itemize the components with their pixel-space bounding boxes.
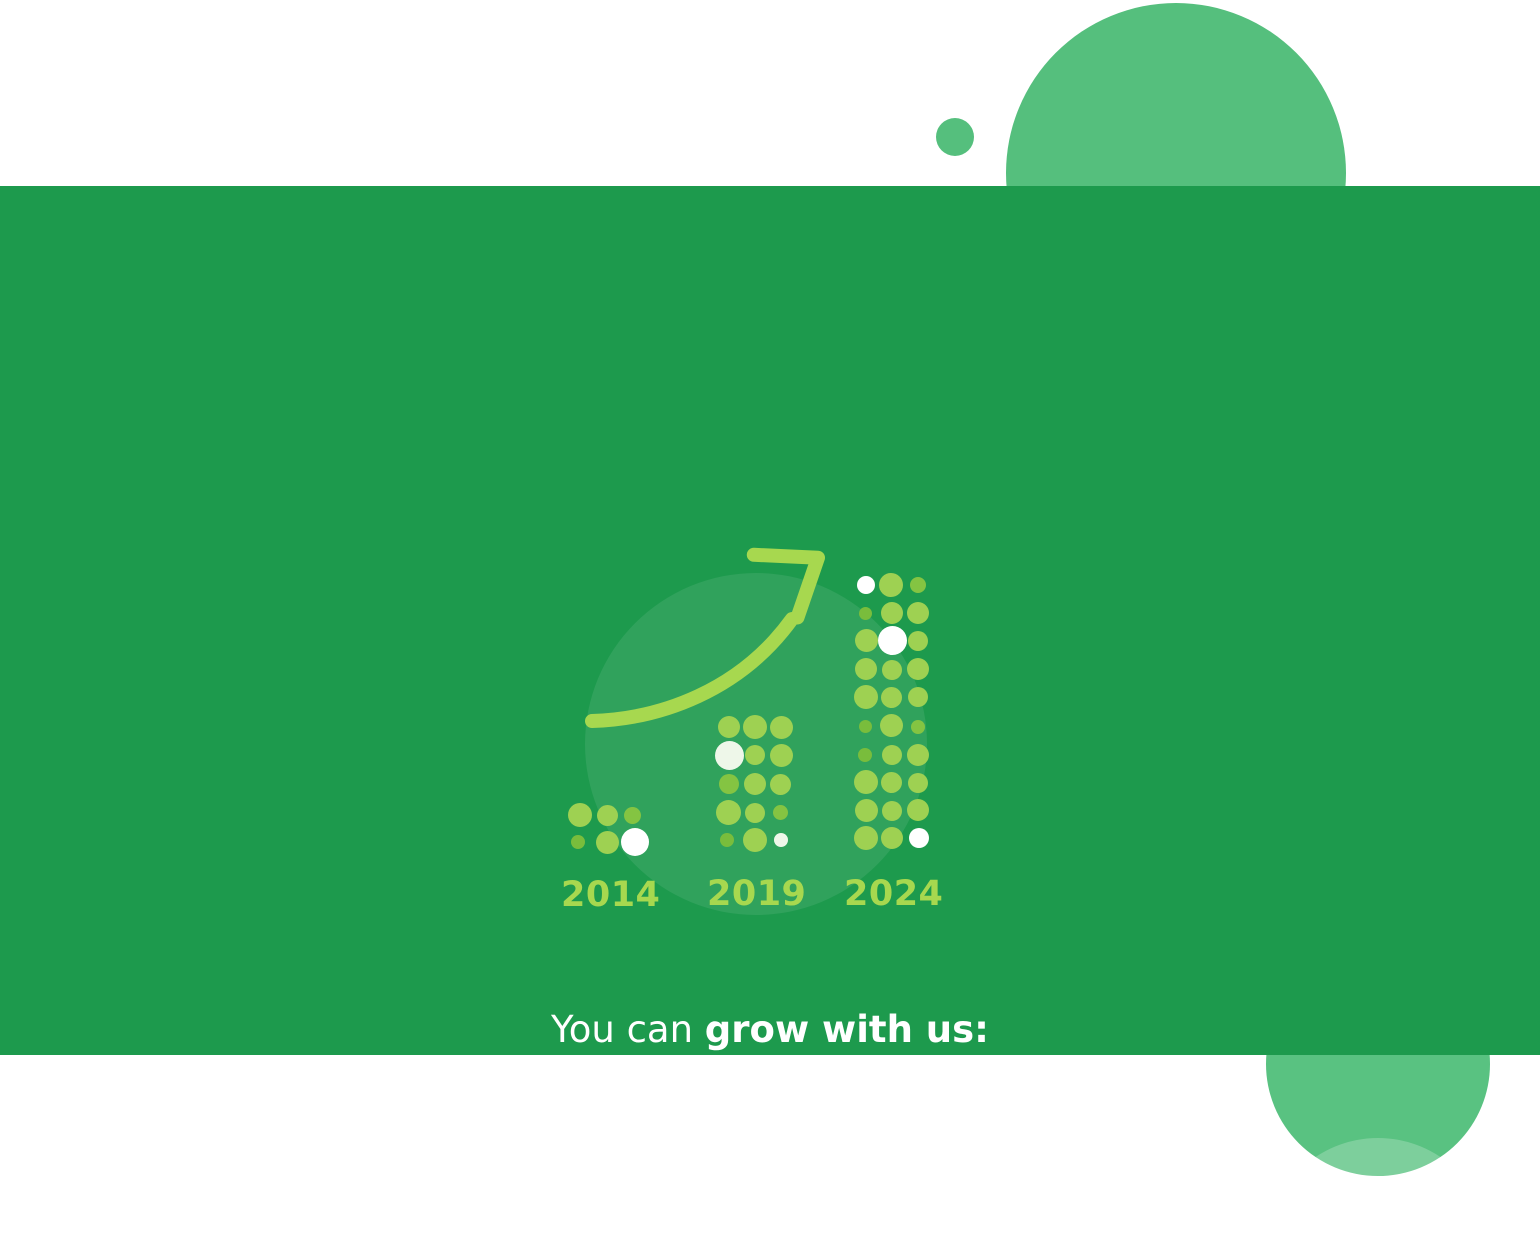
employee-dot xyxy=(770,716,793,739)
year-label-2019: 2019 xyxy=(707,874,806,914)
employee-dot xyxy=(854,685,878,709)
employee-dot xyxy=(719,774,739,794)
employee-dot xyxy=(855,658,877,680)
caption-line-3: in 2019 were 15 and in 2024 a company of… xyxy=(0,1108,1540,1160)
employee-dot xyxy=(908,773,928,793)
decorative-circle-small-top xyxy=(936,118,974,156)
employee-dot xyxy=(908,631,928,651)
employee-dot xyxy=(911,720,925,734)
employee-dot-highlight xyxy=(857,576,875,594)
employee-dot-highlight xyxy=(909,828,929,848)
green-panel: 2014 xyxy=(0,186,1540,1055)
employee-dot xyxy=(745,803,765,823)
employee-dot xyxy=(882,745,902,765)
caption-block: You can grow with us: In 2014 we were 5 … xyxy=(0,1004,1540,1160)
employee-dot xyxy=(770,774,791,795)
year-label-2024: 2024 xyxy=(844,874,943,914)
employee-dot xyxy=(881,602,903,624)
dot-grid-2024 xyxy=(853,574,939,861)
caption-line-1-bold: grow with us: xyxy=(705,1008,989,1051)
employee-dot xyxy=(743,715,767,739)
employee-dot xyxy=(881,687,902,708)
employee-dot xyxy=(880,714,903,737)
employee-dot xyxy=(773,805,788,820)
employee-dot xyxy=(881,772,902,793)
employee-dot xyxy=(744,773,766,795)
dot-grid-2019 xyxy=(716,716,802,861)
employee-dot xyxy=(881,827,903,849)
employee-dot-highlight xyxy=(774,833,788,847)
employee-dot xyxy=(743,828,767,852)
employee-dot xyxy=(879,573,903,597)
dot-grid-2014 xyxy=(568,803,654,861)
caption-line-2: In 2014 we were 5 employees, xyxy=(0,1056,1540,1108)
employee-dot xyxy=(597,805,618,826)
employee-dot xyxy=(770,744,793,767)
employee-dot xyxy=(568,803,592,827)
employee-dot xyxy=(745,745,765,765)
caption-line-1-plain: You can xyxy=(551,1008,705,1051)
employee-dot xyxy=(624,807,641,824)
employee-dot xyxy=(910,577,926,593)
dot-column-2019: 2019 xyxy=(716,716,802,861)
dot-column-2014: 2014 xyxy=(568,803,654,861)
year-label-2014: 2014 xyxy=(561,875,660,915)
employee-dot xyxy=(858,748,872,762)
employee-dot xyxy=(907,799,929,821)
employee-dot xyxy=(907,602,929,624)
slide-canvas: 2014 xyxy=(0,0,1540,1243)
employee-dot xyxy=(882,801,902,821)
employee-dot xyxy=(854,826,878,850)
employee-dot xyxy=(716,800,741,825)
employee-dot xyxy=(854,770,878,794)
employee-dot xyxy=(859,720,872,733)
employee-dot xyxy=(596,831,619,854)
employee-dot xyxy=(855,799,878,822)
employee-dot xyxy=(571,835,585,849)
employee-dot-highlight xyxy=(878,626,907,655)
employee-dot-highlight xyxy=(621,828,649,856)
growth-dot-chart: 2014 xyxy=(540,541,1000,941)
employee-dot xyxy=(855,629,878,652)
employee-dot xyxy=(907,658,929,680)
employee-dot xyxy=(907,744,929,766)
employee-dot xyxy=(718,716,740,738)
dot-column-2024: 2024 xyxy=(853,574,939,861)
caption-line-1: You can grow with us: xyxy=(0,1004,1540,1056)
employee-dot xyxy=(859,607,872,620)
employee-dot xyxy=(882,660,902,680)
employee-dot xyxy=(720,833,734,847)
employee-dot xyxy=(908,687,928,707)
employee-dot-highlight xyxy=(715,741,744,770)
